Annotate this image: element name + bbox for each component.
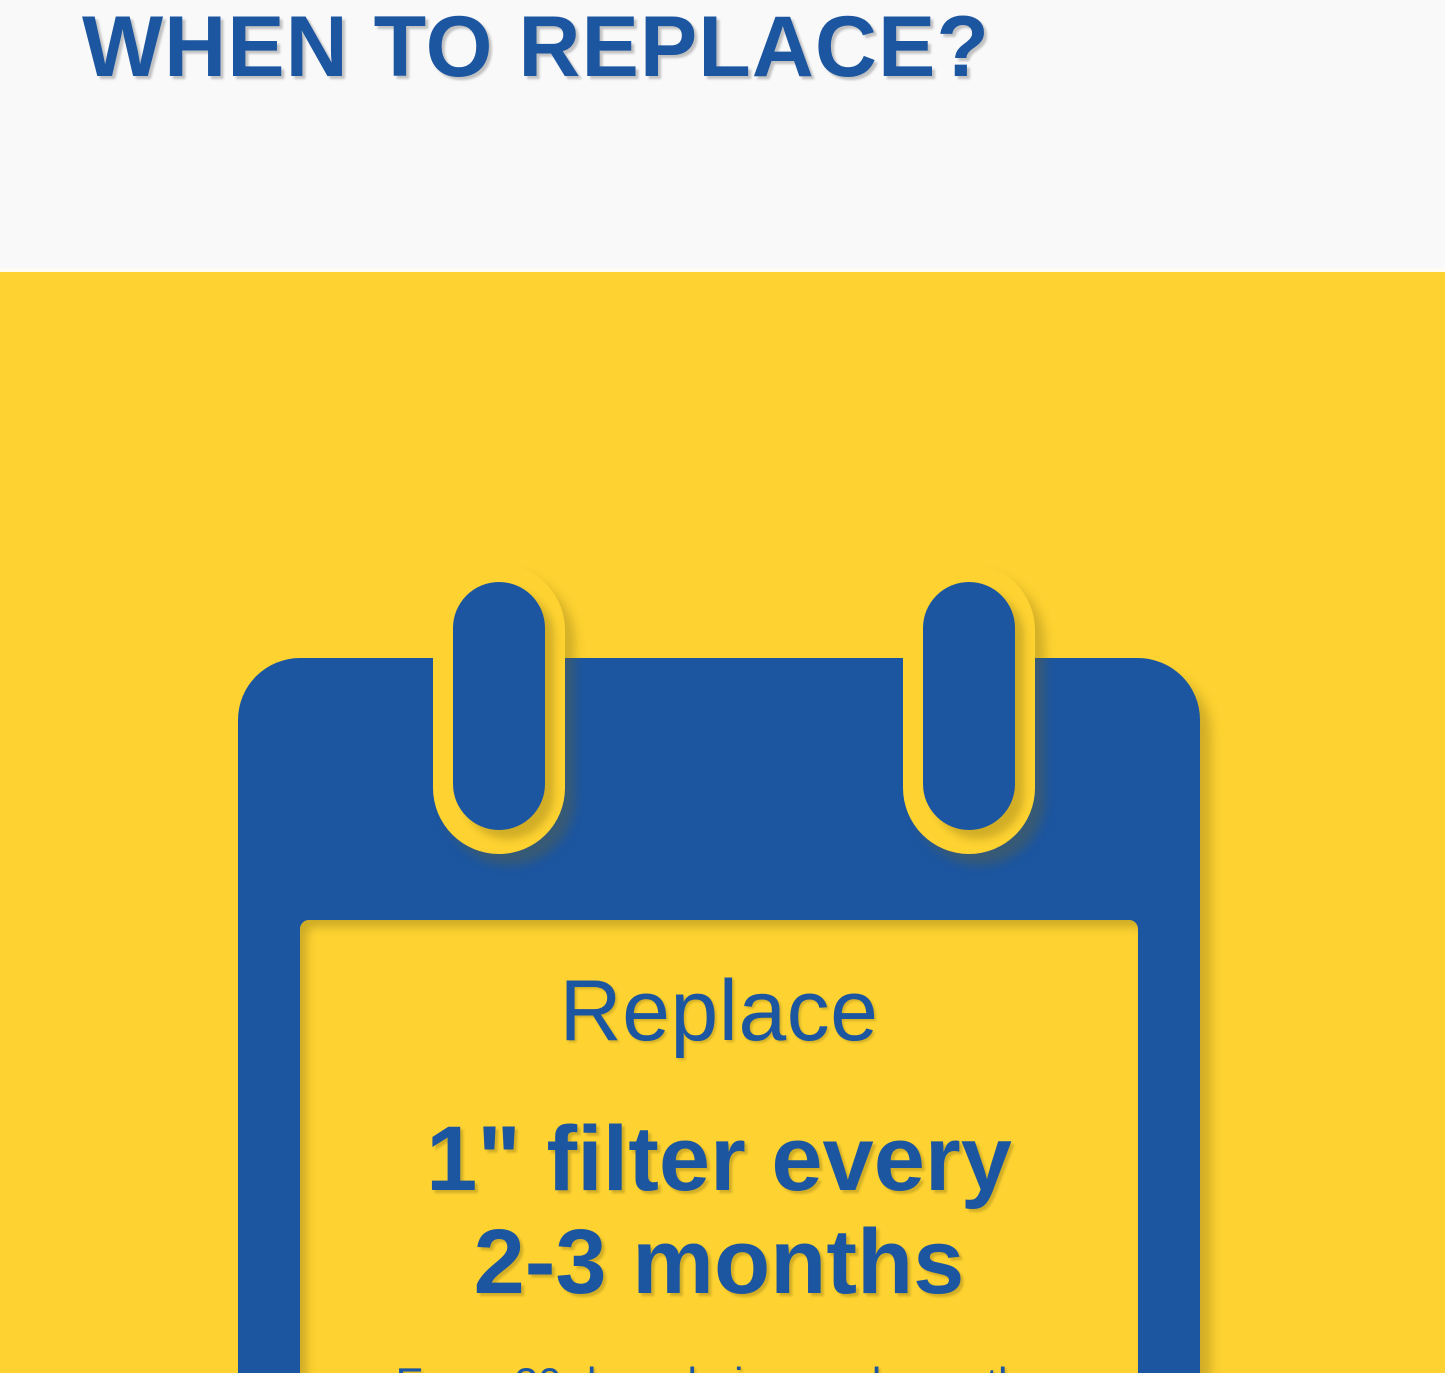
page-title: WHEN TO REPLACE? [82, 2, 990, 92]
replace-label: Replace [300, 968, 1138, 1056]
calendar-ring-right [923, 582, 1015, 830]
peak-note: Every 30 days during peak months [312, 1360, 1126, 1373]
header-band: WHEN TO REPLACE? [0, 0, 1445, 272]
peak-note-block: Every 30 days during peak months [300, 1360, 1138, 1373]
replace-interval-line-1: 1" filter every [426, 1108, 1012, 1210]
yellow-panel: Replace 1" filter every 2-3 months Every… [0, 272, 1445, 1373]
calendar-ring-left [453, 582, 545, 830]
replace-interval: 1" filter every 2-3 months [300, 1108, 1138, 1314]
infographic-page: WHEN TO REPLACE? Replace 1" filter every… [0, 0, 1445, 1373]
replace-interval-line-2: 2-3 months [300, 1211, 1138, 1314]
calendar-text-block: Replace 1" filter every 2-3 months Every… [300, 920, 1138, 1373]
